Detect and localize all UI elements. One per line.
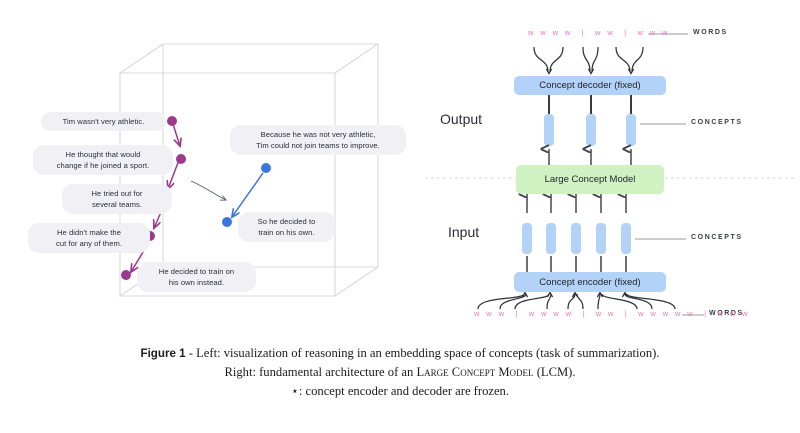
concept-decoder-box[interactable]: Concept decoder (fixed) <box>514 76 666 95</box>
decoder-to-output-stems <box>549 94 631 116</box>
summary-bubble-2: So he decided to train on his own. <box>238 212 335 242</box>
summary-bubble-1: Because he was not very athletic, Tim co… <box>230 125 406 155</box>
caption-figure-number: Figure 1 <box>141 347 186 360</box>
caption-line-1: Figure 1 - Left: visualization of reason… <box>0 344 800 363</box>
cube-edge-tr <box>335 44 378 73</box>
right-panel-lcm-architecture: Concept decoder (fixed) Large Concept Mo… <box>420 0 800 340</box>
output-concept-bar-2 <box>586 114 596 146</box>
summary-point-2 <box>222 217 232 227</box>
concept-bubble-4: He didn't make the cut for any of them. <box>28 223 150 253</box>
summary-arrow-1 <box>232 173 263 217</box>
concept-encoder-label: Concept encoder (fixed) <box>539 277 640 288</box>
output-concept-bar-1 <box>544 114 554 146</box>
concept-bubble-1: Tim wasn't very athletic. <box>41 112 166 131</box>
input-point-1 <box>167 116 177 126</box>
figure-1-image: Tim wasn't very athletic. He thought tha… <box>0 0 800 340</box>
large-concept-model-box[interactable]: Large Concept Model <box>516 165 664 194</box>
concept-encoder-box[interactable]: Concept encoder (fixed) <box>514 272 666 292</box>
decoder-word-brackets <box>534 47 643 72</box>
word-row-bottom: w w w | w w w w | w w | w w w w w | w w … <box>474 309 750 318</box>
edge-label-words-top: WORDS <box>693 29 728 36</box>
input-concept-bar-3 <box>571 223 581 254</box>
output-concept-bar-3 <box>626 114 636 146</box>
cube-edge-tl <box>120 44 163 73</box>
concept-decoder-label: Concept decoder (fixed) <box>539 80 640 91</box>
cube-edge-br <box>335 267 378 296</box>
caption-line-1-text: - Left: visualization of reasoning in an… <box>189 346 660 360</box>
edge-label-concepts-output: CONCEPTS <box>691 119 743 126</box>
edge-label-concepts-input: CONCEPTS <box>691 234 743 241</box>
concept-bubble-3: He tried out for several teams. <box>62 184 172 214</box>
input-concept-bar-5 <box>621 223 631 254</box>
lcm-to-output-arrows <box>549 149 631 165</box>
concept-bubble-2: He thought that would change if he joine… <box>33 145 173 175</box>
input-concept-bars <box>522 223 631 254</box>
input-point-5 <box>121 270 131 280</box>
input-concept-bar-1 <box>522 223 532 254</box>
large-concept-model-label: Large Concept Model <box>545 174 636 185</box>
caption-line-3: ⋆: concept encoder and decoder are froze… <box>0 382 800 401</box>
word-row-top: w w w w | w w | w w w <box>528 28 670 37</box>
encoder-to-input-stems <box>527 256 626 272</box>
figure-caption: Figure 1 - Left: visualization of reason… <box>0 344 800 401</box>
caption-line-2-suffix: (LCM). <box>534 365 576 379</box>
input-concept-bar-4 <box>596 223 606 254</box>
left-panel-embedding-space: Tim wasn't very athletic. He thought tha… <box>0 0 420 340</box>
input-concept-bar-2 <box>546 223 556 254</box>
stage-label-output: Output <box>440 111 482 127</box>
concept-bubble-5: He decided to train on his own instead. <box>137 262 256 292</box>
output-concept-bars <box>544 114 636 146</box>
caption-line-2-prefix: Right: fundamental architecture of an <box>224 365 416 379</box>
mapping-arrow <box>191 181 226 200</box>
caption-model-name: Large Concept Model <box>416 365 533 379</box>
stage-label-input: Input <box>448 224 479 240</box>
summary-point-1 <box>261 163 271 173</box>
input-point-2 <box>176 154 186 164</box>
input-to-lcm-arrows <box>527 194 626 213</box>
caption-line-2: Right: fundamental architecture of an La… <box>0 363 800 382</box>
